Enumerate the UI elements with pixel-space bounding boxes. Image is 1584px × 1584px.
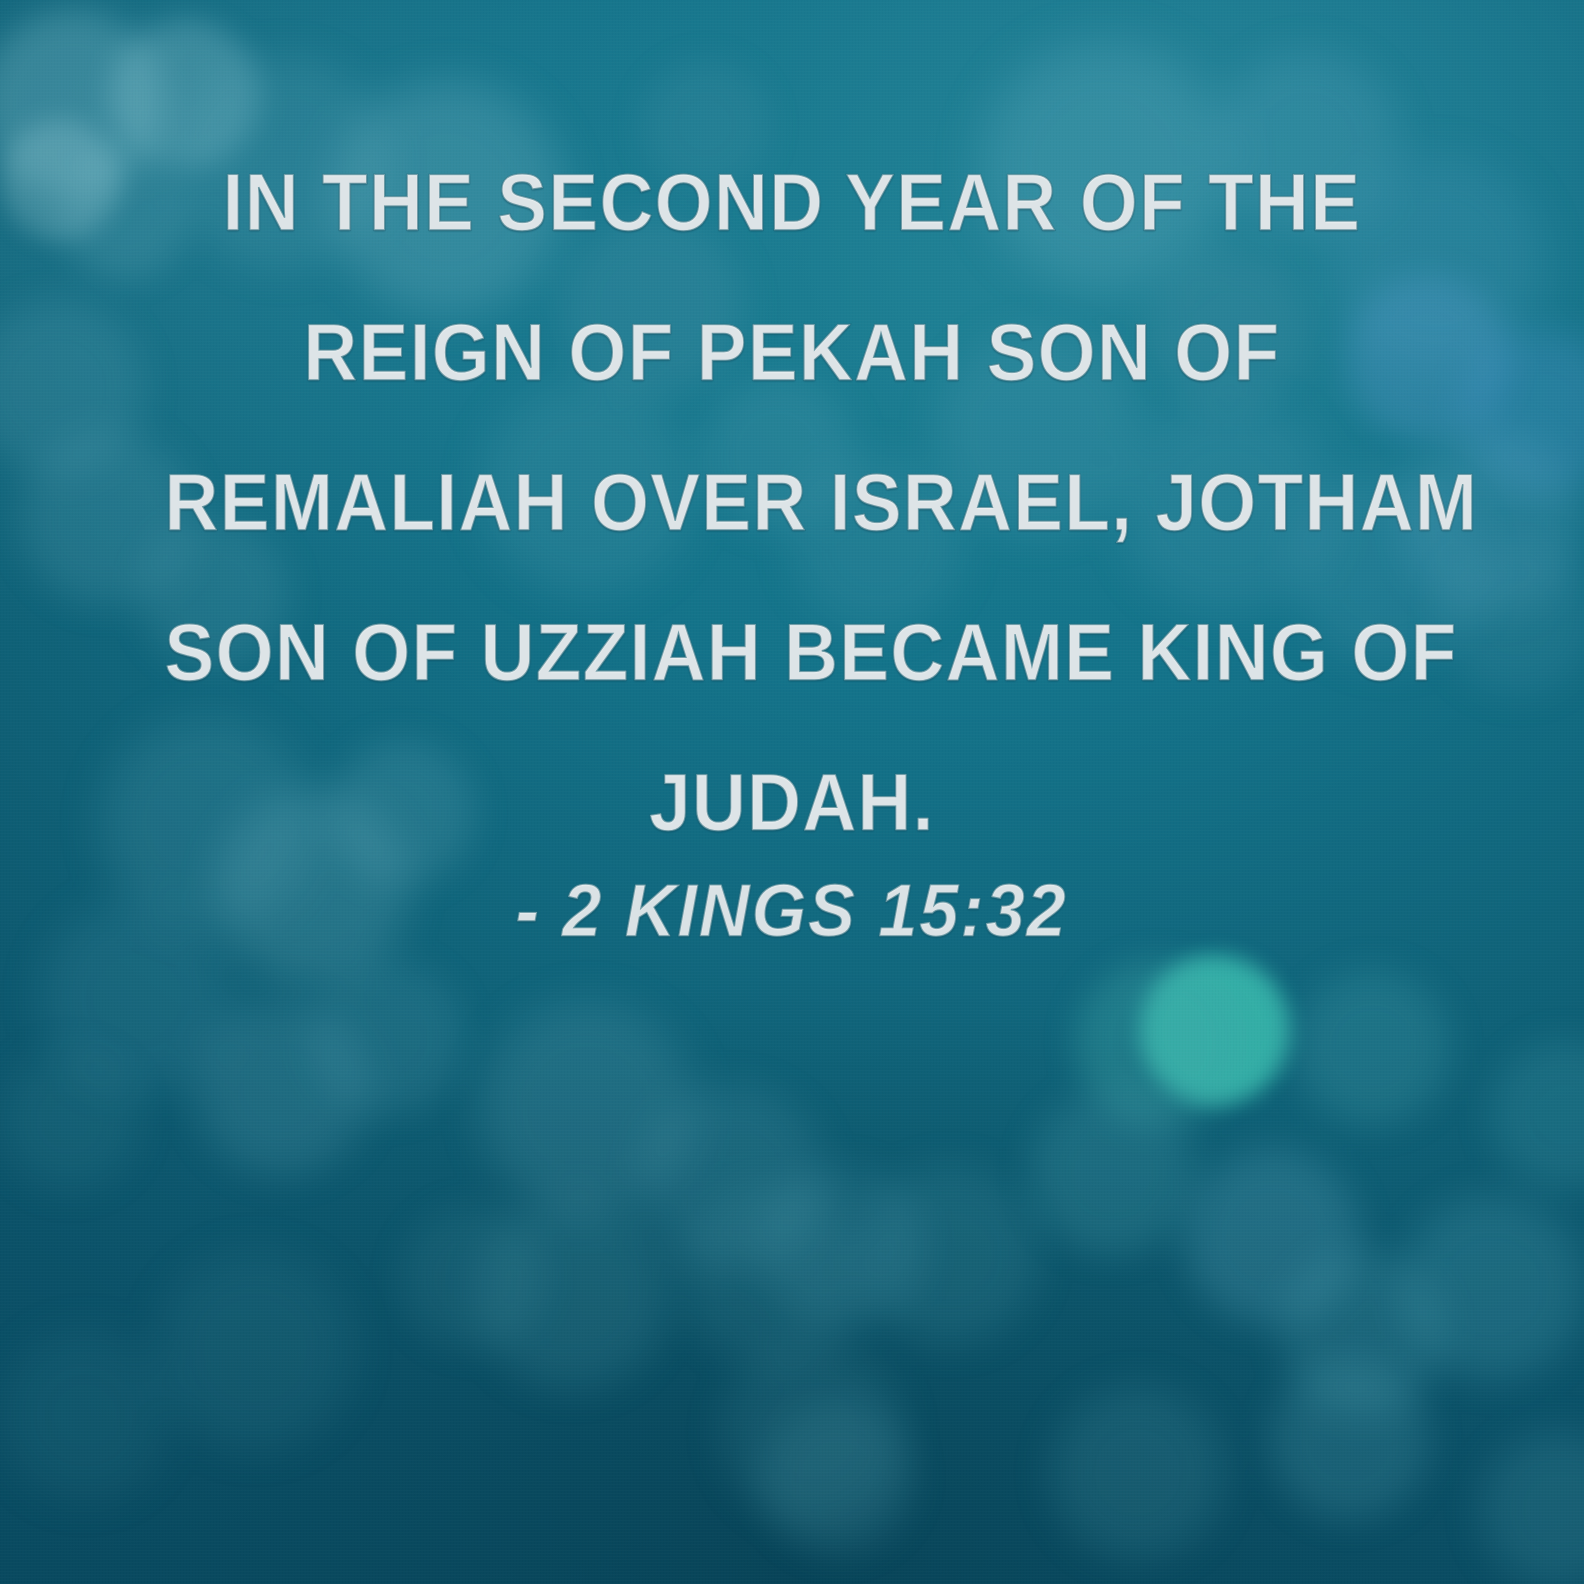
verse-line-3-glyphs: REMALIAH OVER ISRAEL, JOTHAM — [165, 428, 1479, 578]
bokeh-circle-bc-8 — [720, 1340, 905, 1525]
verse-line-5-glyphs: JUDAH. — [649, 728, 935, 878]
bokeh-circle-bc-4 — [400, 1205, 545, 1350]
bokeh-circle-br-1 — [1075, 960, 1240, 1125]
bokeh-circle-br-8 — [1050, 1385, 1225, 1560]
bokeh-circle-br-6 — [1280, 1250, 1445, 1415]
bokeh-circle-br-10 — [1480, 1430, 1584, 1584]
bokeh-circle-bc-7 — [860, 1165, 1040, 1345]
bokeh-circle-bc-6 — [680, 1180, 865, 1365]
verse-line-2: REIGN OF PEKAH SON OF — [165, 278, 1420, 428]
bokeh-circle-br-2 — [1295, 970, 1450, 1125]
verse-line-5: JUDAH. — [165, 728, 1420, 878]
bokeh-circle-bc-10 — [155, 1250, 355, 1450]
verse-line-3: REMALIAH OVER ISRAEL, JOTHAM — [165, 428, 1420, 578]
bokeh-circle-br-4 — [1185, 1150, 1360, 1325]
bokeh-circle-bc-2 — [640, 1085, 825, 1270]
bokeh-circle-ml-3 — [0, 1050, 140, 1190]
verse-text-block: IN THE SECOND YEAR OF THE REIGN OF PEKAH… — [0, 128, 1584, 878]
verse-line-2-glyphs: REIGN OF PEKAH SON OF — [303, 278, 1280, 428]
bokeh-circle-bc-1 — [480, 1000, 695, 1215]
verse-line-1-glyphs: IN THE SECOND YEAR OF THE — [223, 128, 1362, 278]
verse-line-4: SON OF UZZIAH BECAME KING OF — [165, 578, 1420, 728]
verse-attribution: - 2 KINGS 15:32 — [0, 868, 1584, 953]
bokeh-circle-bc-3 — [760, 1165, 925, 1330]
bokeh-circle-bl-6 — [310, 960, 465, 1115]
verse-line-1: IN THE SECOND YEAR OF THE — [165, 128, 1420, 278]
bokeh-circle-bc-11 — [0, 1330, 170, 1500]
bokeh-circle-br-3 — [1030, 1090, 1195, 1255]
verse-image-canvas: IN THE SECOND YEAR OF THE REIGN OF PEKAH… — [0, 0, 1584, 1584]
verse-line-4-glyphs: SON OF UZZIAH BECAME KING OF — [165, 578, 1458, 728]
bokeh-circle-bc-9 — [760, 1400, 915, 1555]
bokeh-circle-br-9 — [1490, 1040, 1584, 1190]
bokeh-circle-br-5 — [1400, 1195, 1584, 1380]
bokeh-circle-br-7 — [1270, 1360, 1430, 1520]
bokeh-circle-bl-5 — [195, 1000, 370, 1175]
attribution-text: - 2 KINGS 15:32 — [516, 868, 1068, 953]
bokeh-circle-mint — [1140, 955, 1290, 1105]
bokeh-circle-bc-5 — [475, 1195, 670, 1390]
